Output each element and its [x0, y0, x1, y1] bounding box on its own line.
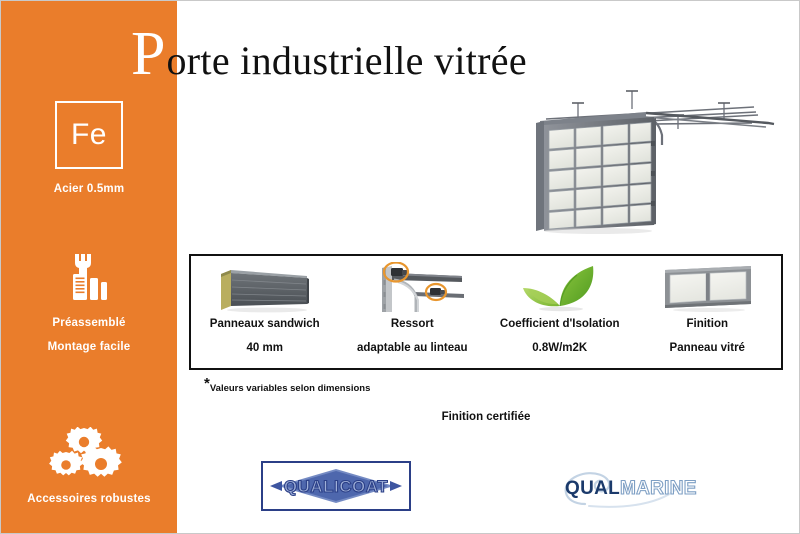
feature-sandwich-panel: Panneaux sandwich 40 mm [191, 256, 339, 368]
features-panel: Panneaux sandwich 40 mm [189, 254, 783, 370]
qualicoat-wordmark: QUALICOAT [284, 477, 388, 496]
feature-value: adaptable au linteau [357, 341, 468, 355]
glazed-panel-icon [657, 261, 757, 315]
sidebar-item-label-accessories: Accessoires robustes [1, 491, 177, 507]
feature-title: Finition [686, 317, 728, 331]
footnote-text: Valeurs variables selon dimensions [210, 383, 371, 395]
qualimarine-wordmark-bold: QUALI [565, 478, 626, 499]
qualicoat-logo: QUALICOAT [261, 461, 411, 511]
sidebar-item-label-steel: Acier 0.5mm [1, 181, 177, 197]
qualimarine-logo: QUALI MARINE [549, 461, 709, 513]
sidebar-item-accessories: Accessoires robustes [1, 425, 177, 507]
feature-title: Coefficient d'Isolation [500, 317, 620, 331]
feature-value: 40 mm [247, 341, 283, 355]
feature-finish: Finition Panneau vitré [634, 256, 782, 368]
qualimarine-wordmark-light: MARINE [620, 478, 697, 499]
green-leaves-icon [517, 261, 603, 315]
spring-mechanism-icon [358, 261, 466, 315]
sidebar-item-assembly: Préassemblé Montage facile [1, 247, 177, 355]
feature-title: Ressort [391, 317, 434, 331]
industrial-glazed-door-image [506, 79, 796, 234]
sidebar-item-label-assembly: Préassemblé [1, 315, 177, 331]
feature-spring: Ressort adaptable au linteau [339, 256, 487, 368]
wrench-assembly-icon [1, 247, 177, 309]
sidebar-item-steel: Fe Acier 0.5mm [1, 101, 177, 197]
page-title: P orte industrielle vitrée [131, 23, 527, 89]
sandwich-panel-icon [211, 261, 319, 315]
fe-symbol: Fe [71, 120, 107, 150]
fe-square-icon: Fe [55, 101, 123, 169]
sidebar-item-label-assembly-2: Montage facile [1, 339, 177, 355]
feature-insulation: Coefficient d'Isolation 0.8W/m2K [486, 256, 634, 368]
product-datasheet: Fe Acier 0.5mm [0, 0, 800, 534]
certification-heading: Finition certifiée [189, 411, 783, 423]
footnote: * Valeurs variables selon dimensions [204, 379, 370, 395]
feature-title: Panneaux sandwich [210, 317, 320, 331]
certification-logos: QUALICOAT QUALI MARINE [189, 456, 783, 526]
feature-value: Panneau vitré [670, 341, 745, 355]
page-title-initial: P [131, 23, 165, 85]
gears-icon [1, 425, 177, 487]
page-title-text: orte industrielle vitrée [166, 37, 526, 85]
feature-value: 0.8W/m2K [532, 341, 587, 355]
